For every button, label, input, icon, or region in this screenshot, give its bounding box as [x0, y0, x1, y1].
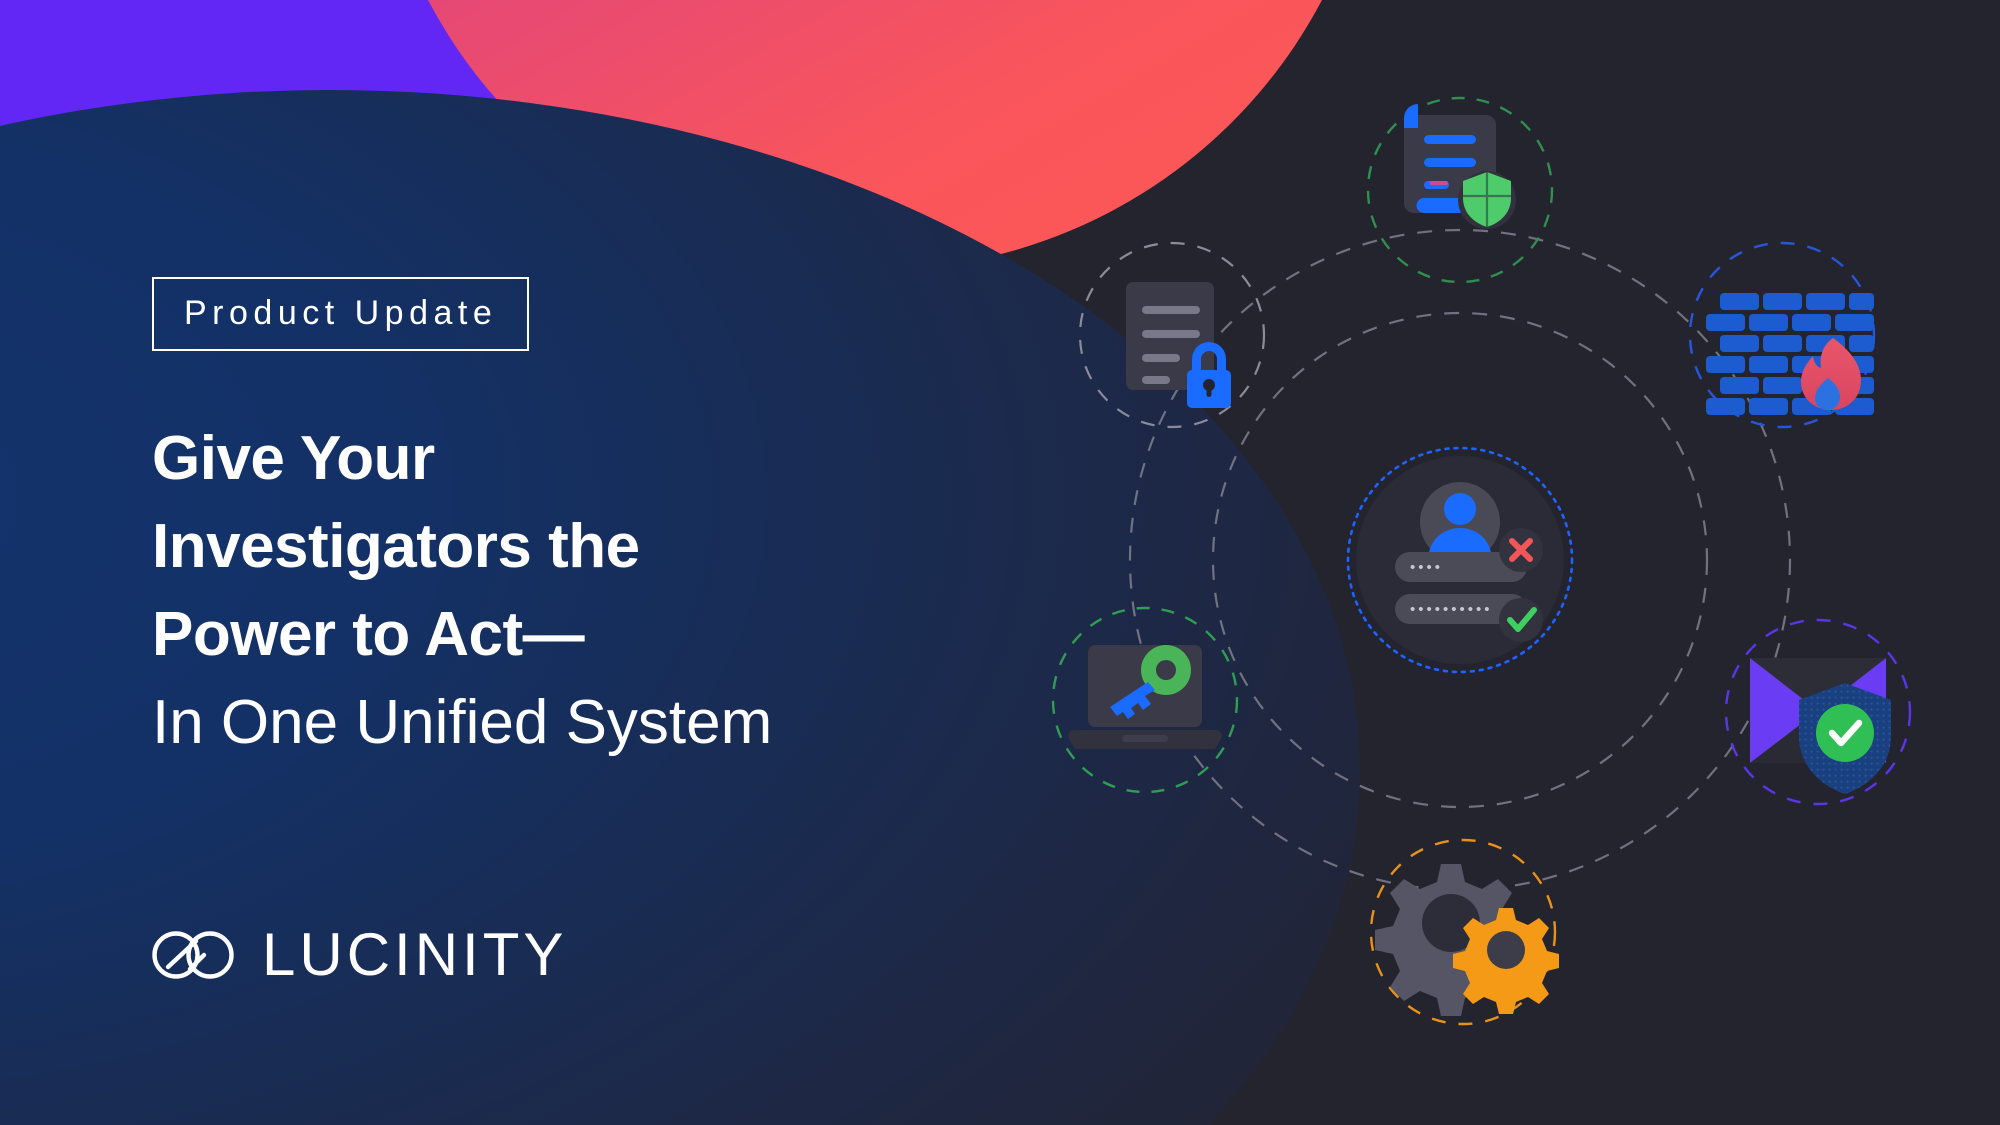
- credential-field-password-value: ••••••••••: [1410, 601, 1493, 618]
- headline-line-1: Give Your: [152, 415, 1032, 503]
- social-card-canvas: Product Update Give Your Investigators t…: [0, 0, 2000, 1125]
- secure-email-node[interactable]: [1726, 620, 1910, 804]
- page-title: Give Your Investigators the Power to Act…: [152, 415, 1032, 767]
- gears-icon: [1375, 864, 1559, 1016]
- lucinity-infinity-mark-icon: [152, 928, 234, 982]
- configuration-node[interactable]: [1371, 840, 1559, 1024]
- credential-status-valid: [1499, 598, 1543, 642]
- check-badge: [1816, 704, 1874, 762]
- headline-line-3: Power to Act—: [152, 591, 1032, 679]
- email-shield-check-icon: [1750, 658, 1891, 794]
- headline-line-2: Investigators the: [152, 503, 1032, 591]
- firewall-node[interactable]: [1690, 243, 1874, 427]
- laptop-key-icon: [1068, 645, 1222, 749]
- product-update-badge: Product Update: [152, 277, 529, 351]
- document-shield-icon: [1404, 104, 1516, 229]
- document-lock-icon: [1126, 282, 1231, 408]
- content-column: Product Update Give Your Investigators t…: [152, 0, 1032, 1125]
- headline-line-4: In One Unified System: [152, 679, 1032, 767]
- secure-access-node[interactable]: [1053, 608, 1237, 792]
- brand-logo: LUCINITY: [152, 925, 567, 985]
- secure-document-node[interactable]: [1368, 98, 1552, 282]
- credential-status-invalid: [1499, 528, 1543, 572]
- user-credentials-node[interactable]: •••• ••••••••••: [1348, 448, 1572, 672]
- badge-label: Product Update: [184, 296, 497, 330]
- security-hub-illustration: •••• ••••••••••: [1000, 0, 2000, 1125]
- lucinity-wordmark: LUCINITY: [262, 925, 567, 985]
- credential-field-username-value: ••••: [1410, 559, 1443, 576]
